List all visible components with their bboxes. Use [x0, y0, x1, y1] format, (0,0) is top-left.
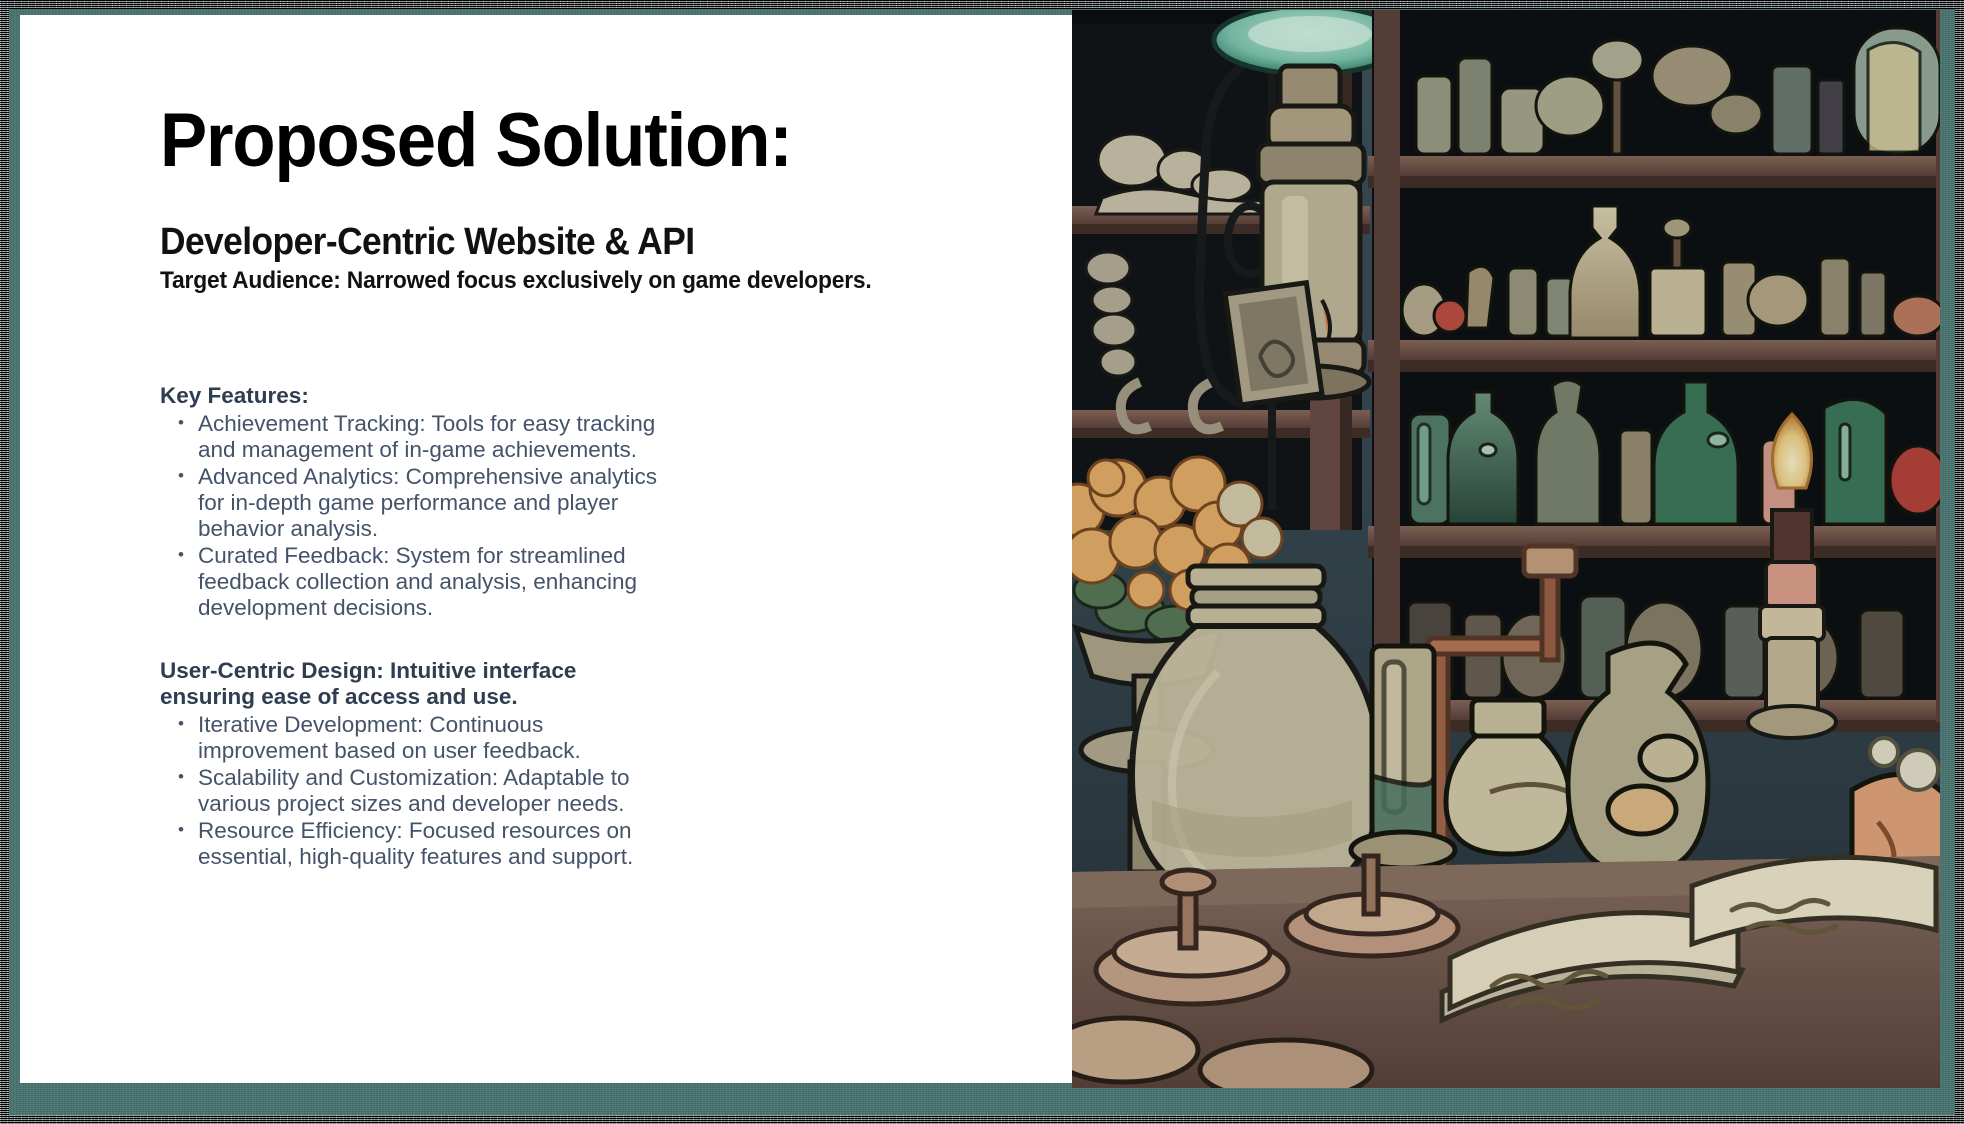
target-audience-line: Target Audience: Narrowed focus exclusiv…: [160, 267, 872, 295]
page-subtitle: Developer-Centric Website & API: [160, 223, 695, 263]
bullet-list: Achievement Tracking: Tools for easy tra…: [160, 411, 660, 621]
slide-body: Key Features: Achievement Tracking: Tool…: [160, 383, 660, 871]
apothecary-illustration-svg: [1072, 10, 1940, 1088]
list-item: Curated Feedback: System for streamlined…: [160, 543, 660, 621]
list-item: Scalability and Customization: Adaptable…: [160, 765, 660, 817]
list-item: Advanced Analytics: Comprehensive analyt…: [160, 464, 660, 542]
apothecary-shop-illustration: [1072, 10, 1940, 1088]
section-key-features: Key Features: Achievement Tracking: Tool…: [160, 383, 660, 621]
slide-root: Proposed Solution: Developer-Centric Web…: [0, 0, 1964, 1124]
section-user-centric-design: User-Centric Design: Intuitive interface…: [160, 658, 660, 870]
section-lead: User-Centric Design: Intuitive interface…: [160, 658, 660, 710]
list-item: Iterative Development: Continuous improv…: [160, 712, 660, 764]
section-lead: Key Features:: [160, 383, 660, 409]
list-item: Resource Efficiency: Focused resources o…: [160, 818, 660, 870]
section-spacer: [160, 622, 660, 658]
list-item: Achievement Tracking: Tools for easy tra…: [160, 411, 660, 463]
slide-content-card: Proposed Solution: Developer-Centric Web…: [20, 15, 1072, 1083]
page-title: Proposed Solution:: [160, 103, 792, 179]
bullet-list: Iterative Development: Continuous improv…: [160, 712, 660, 870]
